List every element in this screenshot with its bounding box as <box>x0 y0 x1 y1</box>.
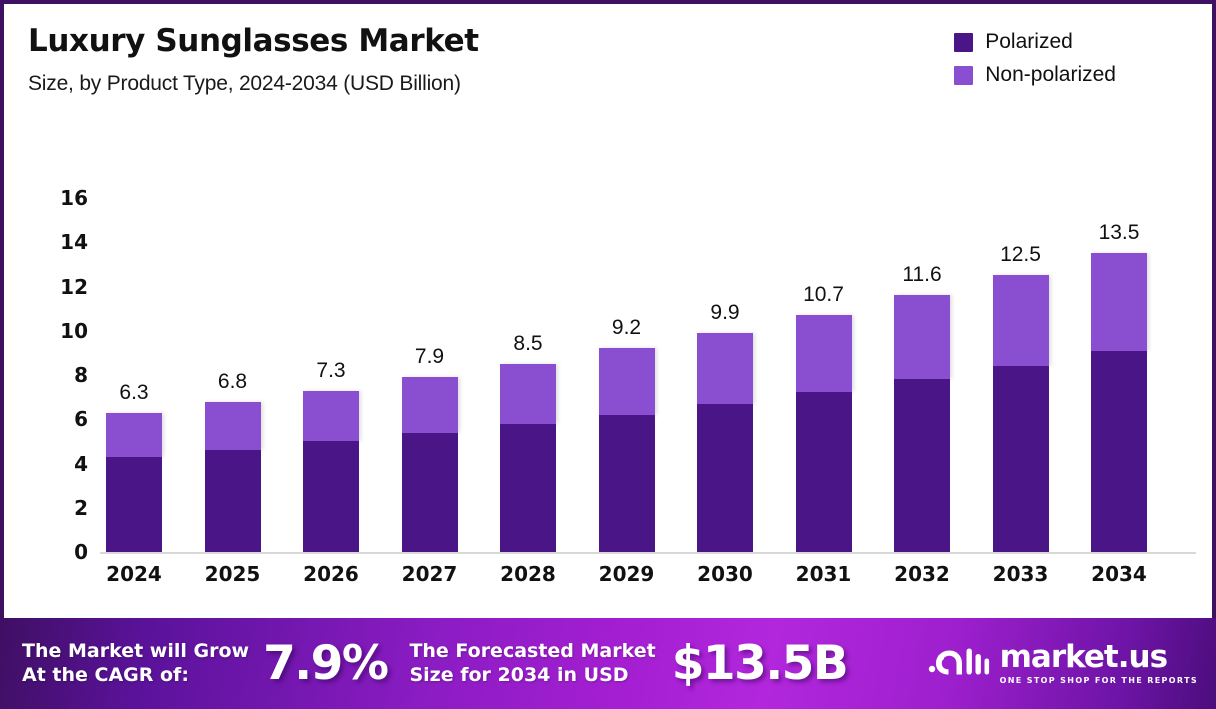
bar-value-label: 9.9 <box>710 301 739 325</box>
bar-stack[interactable] <box>697 333 753 552</box>
bar-value-label: 7.9 <box>415 345 444 369</box>
x-axis-tick: 2026 <box>303 562 359 586</box>
y-axis-tick: 4 <box>74 452 88 476</box>
x-axis-tick: 2033 <box>993 562 1049 586</box>
legend-item-label: Non-polarized <box>985 63 1116 87</box>
bar-value-label: 10.7 <box>803 283 844 307</box>
brand-name: market.us <box>1000 642 1198 673</box>
bar-segment-non-polarized[interactable] <box>599 348 655 414</box>
x-axis-tick: 2027 <box>402 562 458 586</box>
bar-segment-polarized[interactable] <box>697 404 753 552</box>
bar-value-label: 9.2 <box>612 316 641 340</box>
bar-stack[interactable] <box>106 413 162 552</box>
bar-value-label: 12.5 <box>1000 243 1041 267</box>
bar-value-label: 13.5 <box>1099 221 1140 245</box>
x-axis-tick: 2031 <box>796 562 852 586</box>
bar-value-label: 11.6 <box>902 263 941 287</box>
bar-segment-polarized[interactable] <box>500 424 556 552</box>
bar-stack[interactable] <box>993 275 1049 552</box>
x-axis-tick: 2030 <box>697 562 753 586</box>
y-axis: 0246810121416 <box>44 154 88 554</box>
legend-swatch-icon <box>954 66 973 85</box>
y-axis-tick: 2 <box>74 496 88 520</box>
x-axis-tick: 2029 <box>599 562 655 586</box>
y-axis-tick: 12 <box>60 275 88 299</box>
bar-segment-polarized[interactable] <box>894 379 950 552</box>
bar-stack[interactable] <box>796 315 852 552</box>
x-axis-tick: 2032 <box>894 562 950 586</box>
legend-swatch-icon <box>954 33 973 52</box>
bar-segment-polarized[interactable] <box>205 450 261 552</box>
bar-segment-non-polarized[interactable] <box>402 377 458 432</box>
bar-stack[interactable] <box>894 295 950 552</box>
bar-segment-polarized[interactable] <box>1091 351 1147 552</box>
bar-stack[interactable] <box>1091 253 1147 552</box>
brand-tagline: ONE STOP SHOP FOR THE REPORTS <box>1000 677 1198 685</box>
bar-stack[interactable] <box>205 402 261 552</box>
bar-stack[interactable] <box>599 348 655 552</box>
legend-item-label: Polarized <box>985 30 1073 54</box>
bar-segment-non-polarized[interactable] <box>303 391 359 442</box>
summary-banner: The Market will Grow At the CAGR of: 7.9… <box>0 618 1216 709</box>
y-axis-tick: 0 <box>74 540 88 564</box>
bar-value-label: 7.3 <box>316 359 345 383</box>
x-axis-tick: 2034 <box>1091 562 1147 586</box>
bar-stack[interactable] <box>500 364 556 552</box>
bar-segment-polarized[interactable] <box>106 457 162 552</box>
bar-segment-non-polarized[interactable] <box>993 275 1049 366</box>
bar-segment-polarized[interactable] <box>993 366 1049 552</box>
chart-plot-area: 0246810121416 6.36.87.37.98.59.29.910.71… <box>4 154 1212 609</box>
bar-segment-polarized[interactable] <box>402 433 458 552</box>
market-us-logo-icon <box>928 644 990 683</box>
chart-legend: PolarizedNon-polarized <box>954 30 1116 87</box>
infographic-container: Luxury Sunglasses Market Size, by Produc… <box>0 0 1216 709</box>
x-axis: 2024202520262027202820292030203120322033… <box>100 562 1200 596</box>
y-axis-tick: 16 <box>60 186 88 210</box>
x-axis-tick: 2024 <box>106 562 162 586</box>
chart-subtitle: Size, by Product Type, 2024-2034 (USD Bi… <box>28 72 479 96</box>
bar-segment-non-polarized[interactable] <box>106 413 162 457</box>
bar-segment-non-polarized[interactable] <box>205 402 261 451</box>
bar-segment-polarized[interactable] <box>599 415 655 552</box>
axis-baseline <box>100 552 1196 554</box>
bar-value-label: 6.8 <box>218 370 247 394</box>
x-axis-tick: 2025 <box>205 562 261 586</box>
brand-text: market.us ONE STOP SHOP FOR THE REPORTS <box>1000 642 1198 685</box>
bars-region: 6.36.87.37.98.59.29.910.711.612.513.5 <box>100 154 1200 554</box>
legend-item-non-polarized[interactable]: Non-polarized <box>954 63 1116 87</box>
bar-segment-non-polarized[interactable] <box>796 315 852 391</box>
forecast-value: $13.5B <box>672 636 848 691</box>
brand-logo[interactable]: market.us ONE STOP SHOP FOR THE REPORTS <box>928 642 1198 685</box>
bar-value-label: 8.5 <box>513 332 542 356</box>
x-axis-tick: 2028 <box>500 562 556 586</box>
bar-segment-polarized[interactable] <box>796 392 852 552</box>
bar-value-label: 6.3 <box>119 381 148 405</box>
y-axis-tick: 8 <box>74 363 88 387</box>
cagr-caption: The Market will Grow At the CAGR of: <box>22 640 249 686</box>
header: Luxury Sunglasses Market Size, by Produc… <box>28 24 479 96</box>
bar-segment-non-polarized[interactable] <box>697 333 753 404</box>
forecast-caption: The Forecasted Market Size for 2034 in U… <box>409 640 655 686</box>
y-axis-tick: 6 <box>74 407 88 431</box>
bar-segment-non-polarized[interactable] <box>1091 253 1147 350</box>
bar-segment-polarized[interactable] <box>303 441 359 552</box>
page-title: Luxury Sunglasses Market <box>28 24 479 58</box>
y-axis-tick: 10 <box>60 319 88 343</box>
legend-item-polarized[interactable]: Polarized <box>954 30 1116 54</box>
bar-stack[interactable] <box>402 377 458 552</box>
y-axis-tick: 14 <box>60 230 88 254</box>
cagr-value: 7.9% <box>263 636 387 691</box>
bar-stack[interactable] <box>303 391 359 553</box>
bar-segment-non-polarized[interactable] <box>500 364 556 424</box>
bar-segment-non-polarized[interactable] <box>894 295 950 379</box>
